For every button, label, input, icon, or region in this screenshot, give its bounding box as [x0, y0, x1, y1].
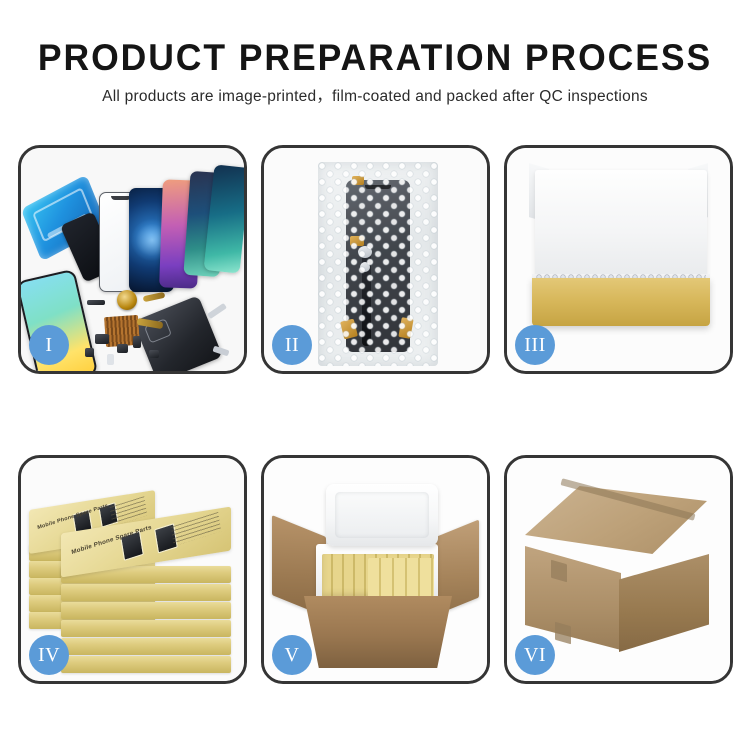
yellow-inner-box-icon — [532, 278, 710, 326]
bubble-texture — [318, 162, 438, 366]
step-3-numeral-badge: III — [515, 325, 555, 365]
box-spec-lines — [170, 512, 220, 546]
step-1-image: I — [21, 148, 244, 371]
process-step-6[interactable]: VI — [504, 455, 733, 684]
camera-lens-icon — [117, 290, 137, 310]
small-part-icon — [87, 300, 105, 305]
process-step-3[interactable]: III — [504, 145, 733, 374]
step-5-numeral-badge: V — [272, 635, 312, 675]
process-step-1[interactable]: I — [18, 145, 247, 374]
page-header: PRODUCT PREPARATION PROCESS All products… — [0, 0, 750, 108]
step-3-image: III — [507, 148, 730, 371]
box-layer — [61, 638, 231, 655]
small-part-icon — [117, 344, 128, 353]
page-title: PRODUCT PREPARATION PROCESS — [15, 36, 735, 80]
step-2-numeral-badge: II — [272, 325, 312, 365]
step-6-image: VI — [507, 458, 730, 681]
foam-lid-icon — [326, 484, 438, 546]
step-2-image: II — [264, 148, 487, 371]
step-4-numeral-badge: IV — [29, 635, 69, 675]
bubble-wrap-bag-icon — [318, 162, 438, 366]
process-step-5[interactable]: V — [261, 455, 490, 684]
step-5-image: V — [264, 458, 487, 681]
box-layer — [61, 584, 231, 601]
small-part-icon — [133, 336, 141, 348]
box-stack-front: Mobile Phone Spare Parts — [61, 520, 231, 672]
step-1-numeral-badge: I — [29, 325, 69, 365]
step-6-numeral-badge: VI — [515, 635, 555, 675]
process-step-4[interactable]: Mobile Phone Spare Parts Mobile Phone Sp… — [18, 455, 247, 684]
carton-body-icon — [304, 596, 452, 668]
small-part-icon — [85, 348, 94, 357]
yellow-boxes-row-icon — [368, 558, 434, 598]
box-layer — [61, 656, 231, 673]
box-layer — [61, 620, 231, 637]
small-part-icon — [107, 354, 114, 365]
foam-liner-icon — [535, 170, 707, 282]
box-layer — [61, 602, 231, 619]
process-step-grid: I II — [18, 145, 732, 684]
step-4-image: Mobile Phone Spare Parts Mobile Phone Sp… — [21, 458, 244, 681]
page-subtitle: All products are image-printed，film-coat… — [0, 86, 750, 108]
process-step-2[interactable]: II — [261, 145, 490, 374]
small-part-icon — [149, 350, 159, 358]
small-part-icon — [95, 334, 109, 344]
